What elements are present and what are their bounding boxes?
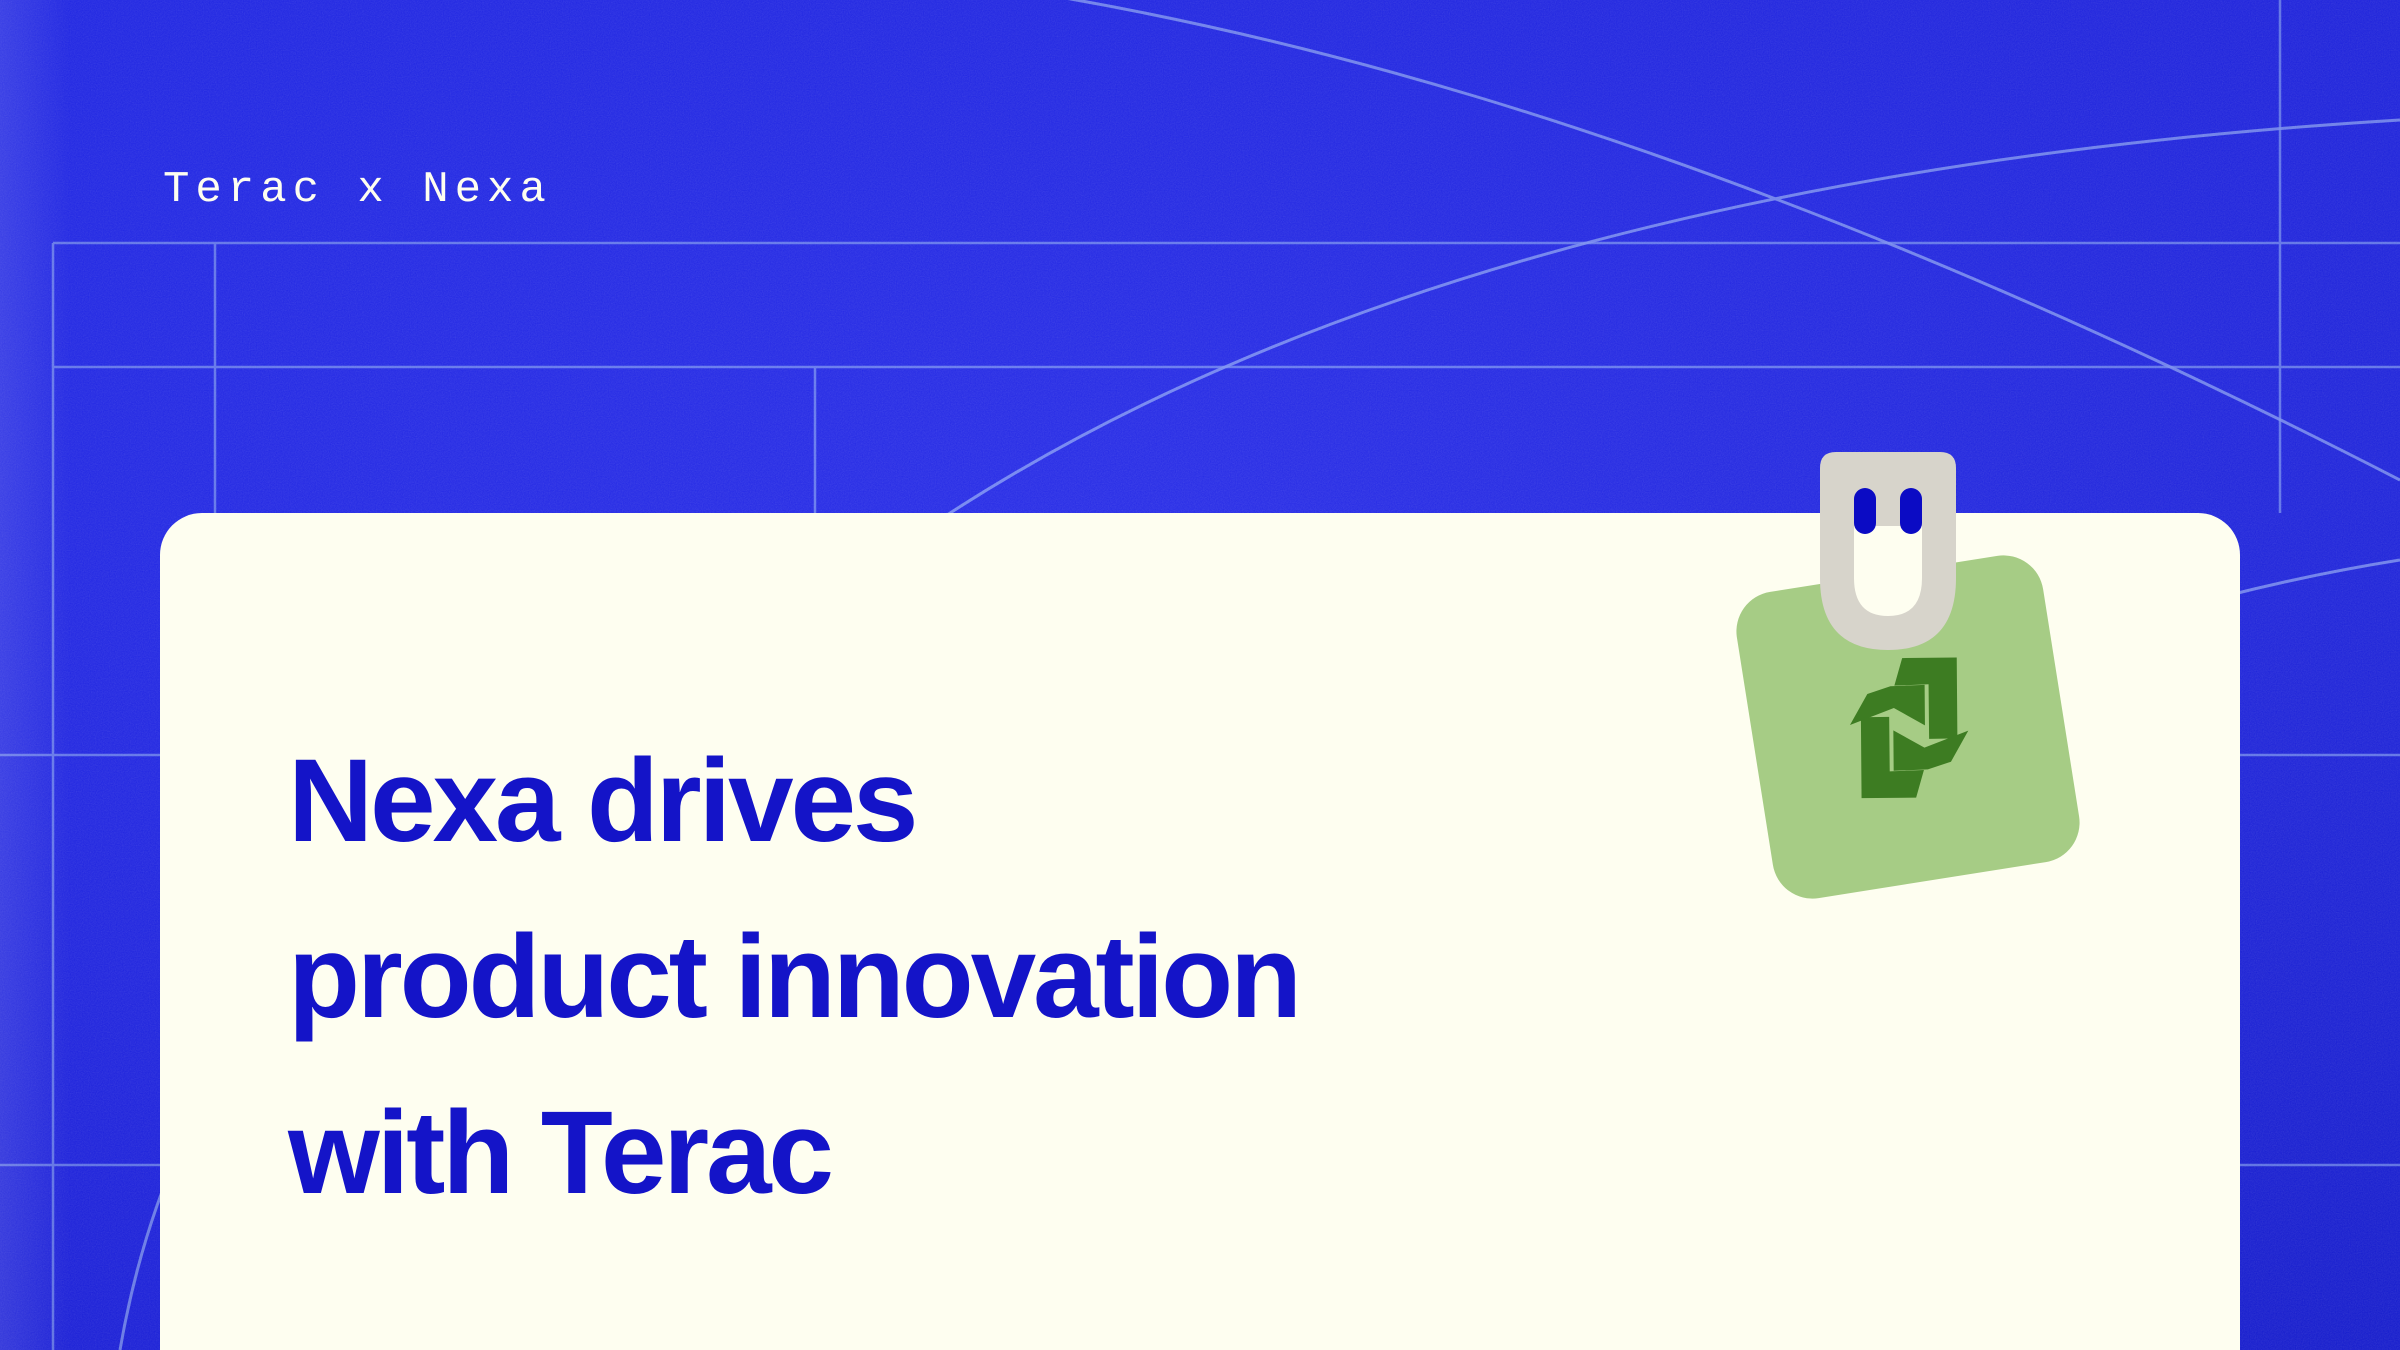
hero-card-content: Nexa drives product innovation with Tera… <box>288 713 1788 1241</box>
kicker-label: Terac x Nexa <box>163 165 552 215</box>
nexa-badge <box>1735 440 2155 970</box>
badge-clip-icon <box>1808 450 1968 670</box>
page-title: Nexa drives product innovation with Tera… <box>288 713 1788 1241</box>
hero-banner: Terac x Nexa Nexa drives product innovat… <box>0 0 2400 1350</box>
